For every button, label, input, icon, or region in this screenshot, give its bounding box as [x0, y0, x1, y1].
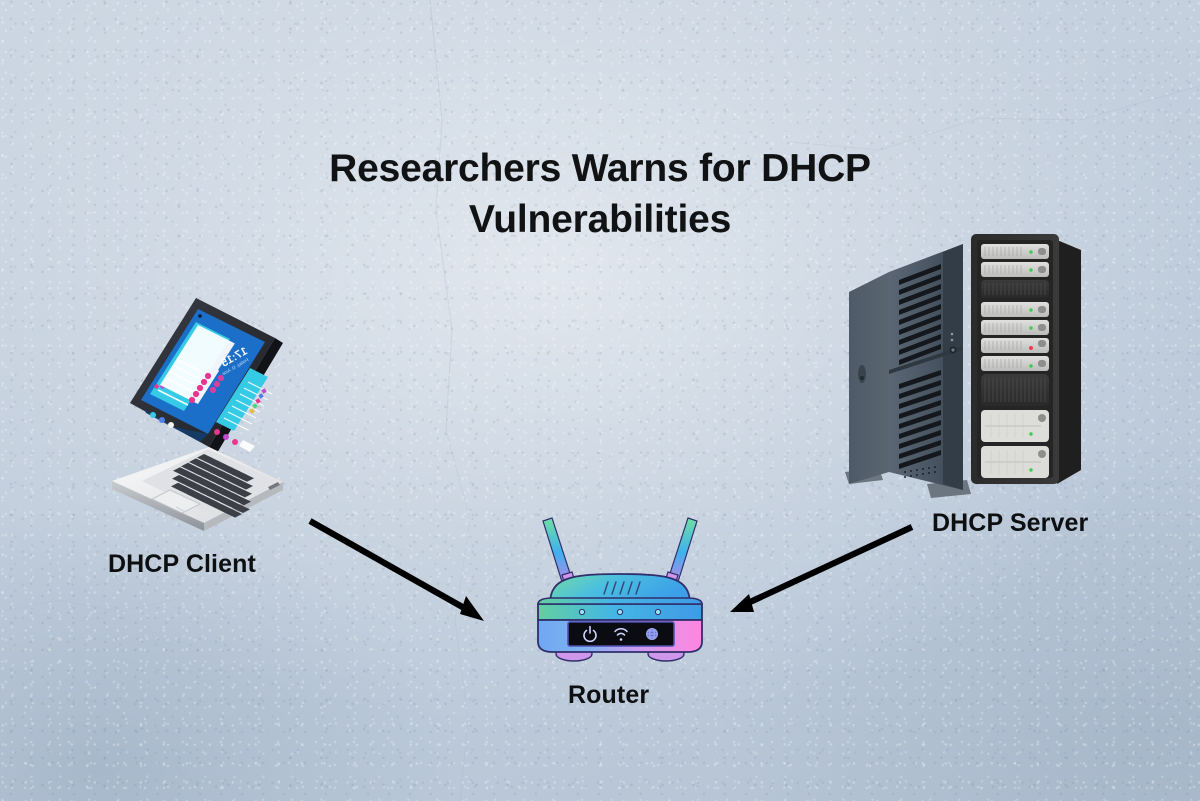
arrow-server-to-router	[730, 527, 912, 612]
globe-icon	[647, 629, 658, 640]
label-dhcp-server: DHCP Server	[932, 509, 1088, 538]
title-line-1: Researchers Warns for DHCP	[0, 143, 1200, 194]
server-rack-icon	[835, 222, 1095, 512]
label-router: Router	[568, 681, 649, 710]
server-tower	[845, 244, 971, 498]
laptop-icon: 17:15 Friday, 11 June	[100, 282, 350, 532]
diagram-canvas: Researchers Warns for DHCP Vulnerabiliti…	[0, 0, 1200, 801]
arrow-client-to-router	[310, 521, 484, 621]
router-icon	[512, 512, 728, 672]
label-dhcp-client: DHCP Client	[108, 550, 256, 579]
server-rack-cabinet	[971, 234, 1081, 484]
